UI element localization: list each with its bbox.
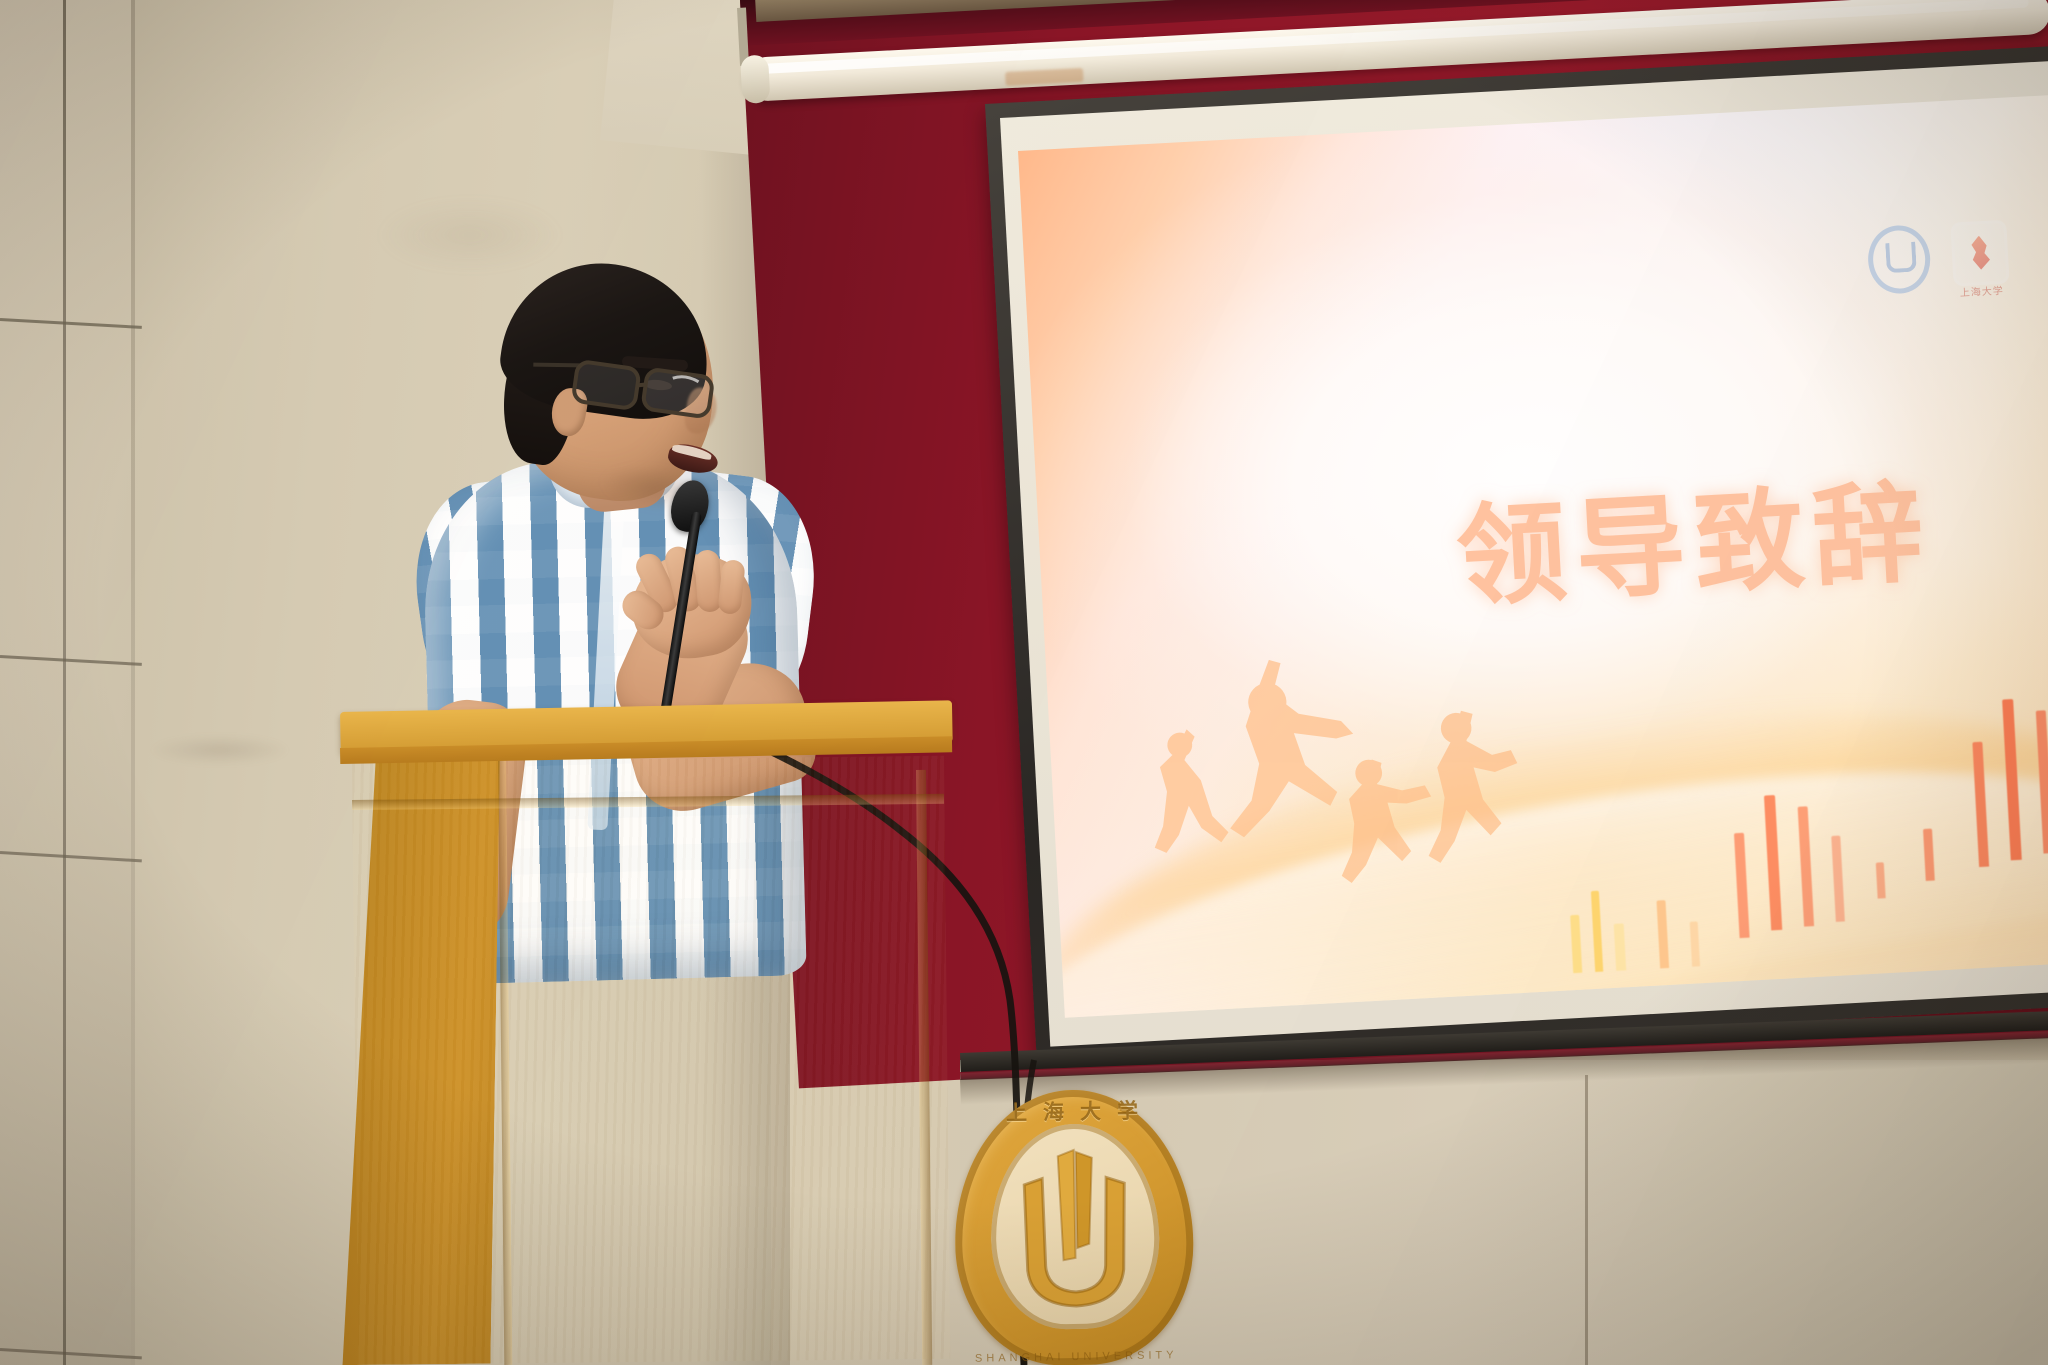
photo-scene: 上海大学 领导致辞 bbox=[0, 0, 2048, 1365]
emblem-english-text: SHANGHAI UNIVERSITY bbox=[957, 1349, 1195, 1365]
wall-seam-vertical bbox=[63, 0, 66, 1365]
slide-logo-group: 上海大学 bbox=[1866, 219, 2009, 294]
wall-pillar-edge bbox=[131, 0, 135, 1365]
wall-smudge bbox=[150, 735, 290, 765]
lower-wall-seam bbox=[1585, 1075, 1588, 1365]
city-skyline-bars-icon bbox=[1548, 684, 2048, 973]
jumping-people-silhouettes-icon bbox=[1097, 617, 1580, 928]
slide-title-text: 领导致辞 bbox=[1454, 475, 1936, 616]
emblem-chinese-text: 上海大学 bbox=[953, 1094, 1191, 1128]
red-logo-caption: 上海大学 bbox=[1959, 281, 2004, 298]
university-emblem: 上海大学 SHANGHAI UNIVERSITY bbox=[953, 1088, 1196, 1365]
housing-end-cap bbox=[740, 55, 770, 104]
emblem-u-mark-icon bbox=[1012, 1147, 1139, 1309]
projected-slide: 上海大学 领导致辞 bbox=[1018, 95, 2048, 1018]
red-flame-logo-icon: 上海大学 bbox=[1950, 219, 2009, 286]
wall-smudge-upper bbox=[380, 200, 560, 270]
circular-blue-logo-icon bbox=[1866, 223, 1932, 294]
